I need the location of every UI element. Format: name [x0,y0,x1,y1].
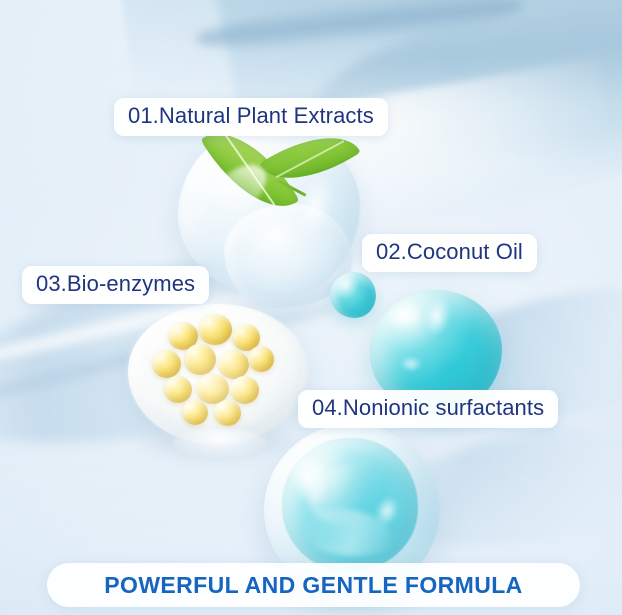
sphere-highlight-main [285,446,333,509]
dish-drop-shadow [132,430,308,456]
ingredient-label-01-text: 01.Natural Plant Extracts [128,103,374,129]
gold-softgel [152,350,181,378]
gold-softgel [218,350,249,379]
white-dish [128,304,308,444]
fabric-highlight-top [242,58,617,239]
capsule-shell-lower-lobe [224,204,352,308]
capsule-highlight-right [290,171,340,242]
white-dish-rim [138,312,298,428]
fabric-crease-top [194,0,526,59]
gold-softgel [184,344,216,375]
sphere-highlight-small [371,493,403,529]
capsule-highlight-upper [192,139,253,190]
gold-softgel [214,400,241,426]
fabric-crease-left-second [0,297,337,415]
fabric-drape-right-lower [373,405,622,565]
gold-softgel [230,376,259,404]
gold-softgel [248,346,274,372]
sphere-gel-swirl-lower [301,504,397,562]
tea-leaf-stem [275,178,306,197]
ingredient-label-04-text: 04.Nonionic surfactants [312,395,544,421]
fabric-drape-top-third [292,0,622,190]
dish-base [172,428,268,458]
dish-milky-veil [128,304,308,444]
gold-softgel [198,314,232,345]
ingredient-label-04: 04.Nonionic surfactants [298,390,558,428]
gel-highlight-upper-left [381,297,425,333]
formula-banner-text: POWERFUL AND GENTLE FORMULA [104,572,522,599]
sphere-gel-swirl-upper [302,455,398,532]
product-ingredient-poster: 01.Natural Plant Extracts 02.Coconut Oil… [0,0,622,615]
gel-highlight-upper-right [421,294,452,337]
ingredient-label-01: 01.Natural Plant Extracts [114,98,388,136]
bio-enzyme-capsules-image [128,304,308,444]
gold-softgel [196,374,229,404]
formula-banner: POWERFUL AND GENTLE FORMULA [47,563,580,607]
coconut-oil-gel-small [330,272,376,318]
gel-highlight-lower [400,356,422,372]
sphere-blue-gel-core [282,438,418,572]
ingredient-label-03: 03.Bio-enzymes [22,266,209,304]
gold-softgel [182,400,208,425]
capsule-sheen [190,153,274,238]
ingredient-label-02-text: 02.Coconut Oil [376,239,523,265]
background-vignette [0,0,622,615]
gold-softgel [232,324,260,351]
ingredient-label-02: 02.Coconut Oil [362,234,537,272]
ingredient-label-03-text: 03.Bio-enzymes [36,271,195,297]
gold-softgel [164,376,192,403]
gold-softgel [168,322,198,350]
